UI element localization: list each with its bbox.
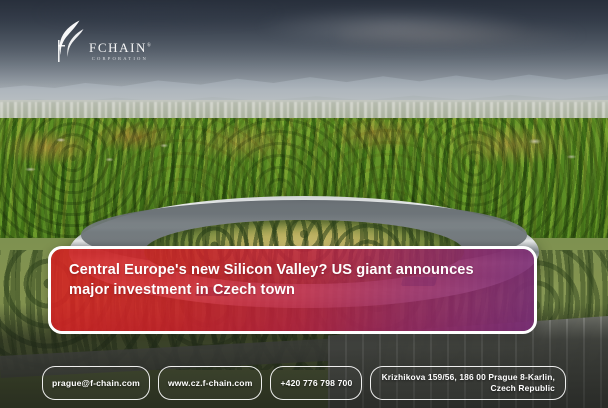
promo-graphic: FCHAIN® CORPORATION Central Europe's new… [0,0,608,408]
brand-name: FCHAIN® [89,41,151,54]
headline-text: Central Europe's new Silicon Valley? US … [51,249,534,300]
trademark-symbol: ® [147,44,151,49]
contact-website[interactable]: www.cz.f-chain.com [158,366,263,400]
contact-phone[interactable]: +420 776 798 700 [270,366,362,400]
contact-bar: prague@f-chain.com www.cz.f-chain.com +4… [0,366,608,400]
brand-wordmark: FCHAIN® CORPORATION [89,41,151,64]
brand-subtitle: CORPORATION [89,56,151,61]
headline-banner: Central Europe's new Silicon Valley? US … [48,246,537,334]
suburban-rooftops [0,126,608,196]
flame-mark-icon [52,18,86,64]
brand-name-text: FCHAIN [89,40,147,55]
contact-email[interactable]: prague@f-chain.com [42,366,150,400]
brand-logo: FCHAIN® CORPORATION [52,18,151,64]
contact-address: Krizhikova 159/56, 186 00 Prague 8-Karli… [370,366,566,400]
